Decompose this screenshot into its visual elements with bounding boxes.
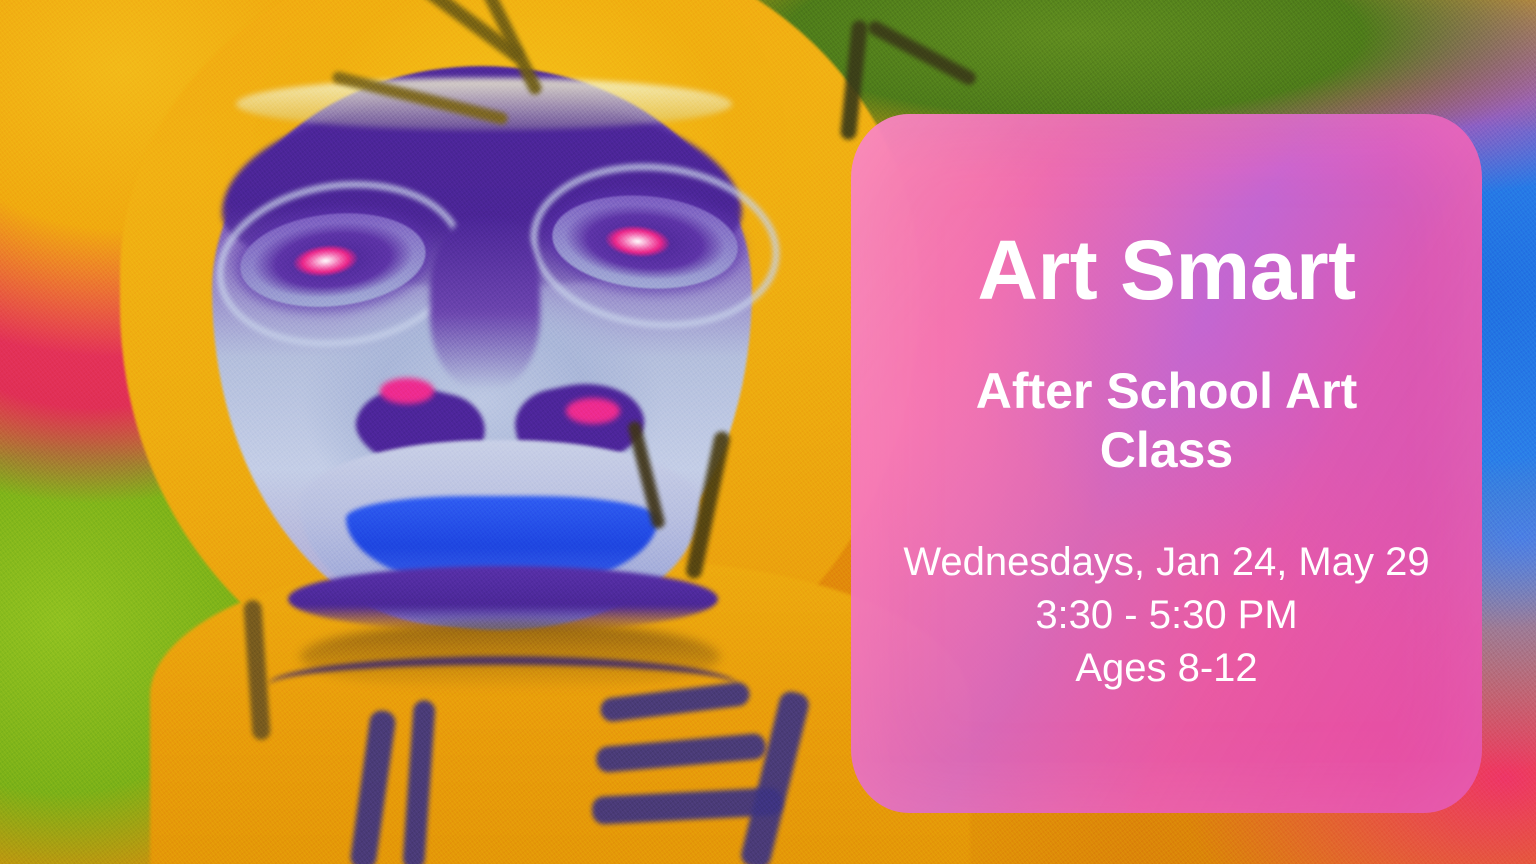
page-title: Art Smart [851,228,1482,312]
event-detail-time: 3:30 - 5:30 PM [865,589,1468,642]
event-detail-ages: Ages 8-12 [865,642,1468,695]
event-detail-dates: Wednesdays, Jan 24, May 29 [865,536,1468,589]
page-subtitle: After School Art Class [851,362,1482,480]
poster-canvas: Art Smart After School Art Class Wednesd… [0,0,1536,864]
event-details: Wednesdays, Jan 24, May 29 3:30 - 5:30 P… [851,536,1482,694]
text-panel-content: Art Smart After School Art Class Wednesd… [851,114,1482,694]
text-panel: Art Smart After School Art Class Wednesd… [851,114,1482,813]
